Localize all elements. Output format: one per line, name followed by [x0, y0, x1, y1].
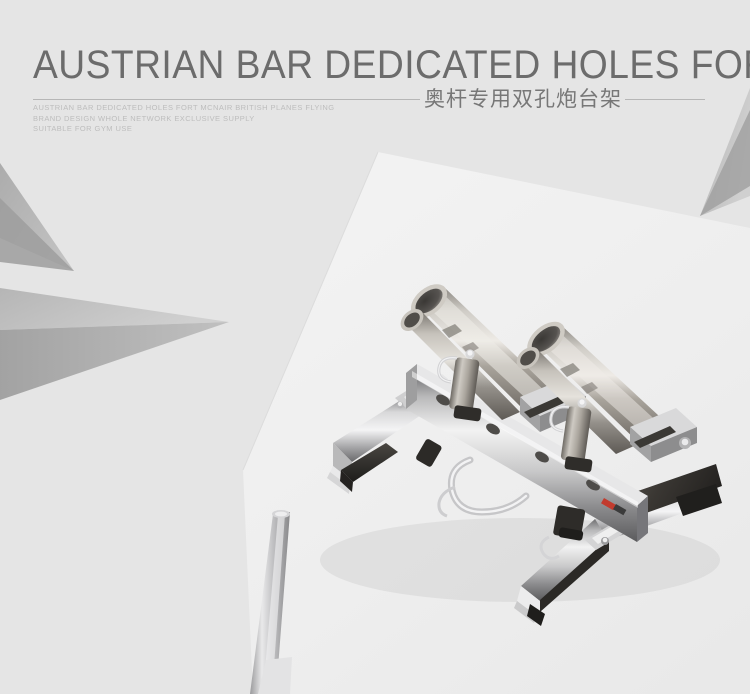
chinese-subtitle: 奥杆专用双孔炮台架: [424, 87, 622, 111]
tagline-block: AUSTRIAN BAR DEDICATED HOLES FORT MCNAIR…: [33, 103, 335, 135]
tagline-line-2: BRAND DESIGN WHOLE NETWORK EXCLUSIVE SUP…: [33, 114, 335, 125]
tagline-line-3: SUITABLE FOR GYM USE: [33, 124, 335, 135]
tagline-line-1: AUSTRIAN BAR DEDICATED HOLES FORT MCNAIR…: [33, 103, 335, 114]
page-title: AUSTRIAN BAR DEDICATED HOLES FORT FRAME: [33, 43, 750, 87]
divider-right: [625, 99, 705, 100]
divider-left: [33, 99, 420, 100]
product-banner: AUSTRIAN BAR DEDICATED HOLES FORT FRAME …: [0, 0, 750, 694]
